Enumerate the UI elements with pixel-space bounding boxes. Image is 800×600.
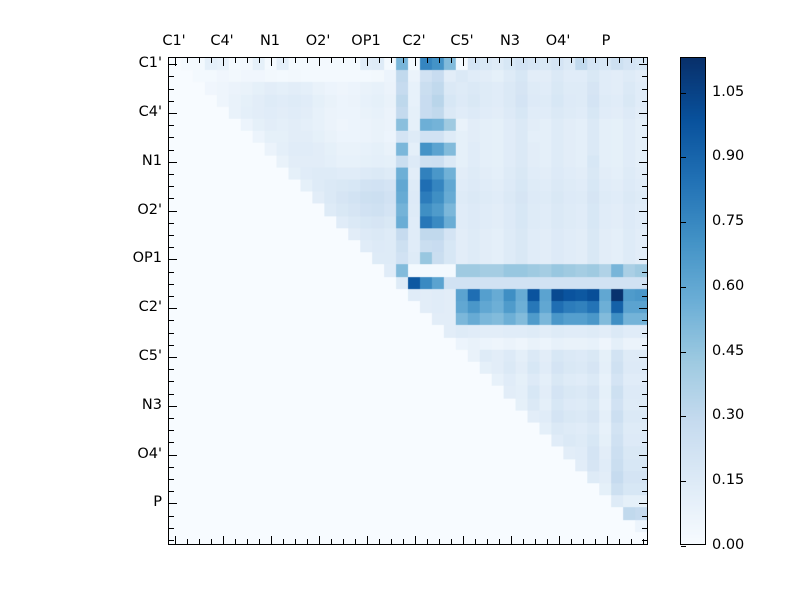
- colorbar-tick: [681, 93, 686, 94]
- colorbar-tick-label-2: 0.30: [712, 407, 744, 423]
- colorbar-tick-label-6: 0.90: [712, 148, 744, 164]
- colorbar-tick: [681, 481, 686, 482]
- colorbar-tick: [681, 157, 686, 158]
- y-tick-label-8: O4': [137, 446, 162, 462]
- colorbar-tick-label-1: 0.15: [712, 472, 744, 488]
- y-tick-label-5: C2': [139, 299, 162, 315]
- colorbar-tick: [681, 416, 686, 417]
- y-tick-label-0: C1': [139, 55, 162, 71]
- y-tick-label-6: C5': [139, 348, 162, 364]
- colorbar-gradient: [681, 58, 705, 544]
- figure-canvas: C1'C4'N1O2'OP1C2'C5'N3O4'P C1'C4'N1O2'OP…: [0, 0, 800, 600]
- y-tick-label-2: N1: [142, 153, 162, 169]
- colorbar-tick-label-5: 0.75: [712, 213, 744, 229]
- colorbar-tick: [681, 352, 686, 353]
- colorbar-tick: [681, 287, 686, 288]
- y-tick-label-9: P: [153, 494, 162, 510]
- y-tick-label-4: OP1: [133, 250, 162, 266]
- colorbar[interactable]: [680, 57, 706, 545]
- colorbar-tick-label-4: 0.60: [712, 278, 744, 294]
- y-tick-label-1: C4': [139, 104, 162, 120]
- colorbar-tick-label-3: 0.45: [712, 343, 744, 359]
- colorbar-tick-label-0: 0.00: [712, 537, 744, 553]
- colorbar-tick-label-7: 1.05: [712, 84, 744, 100]
- y-tick-label-7: N3: [142, 397, 162, 413]
- y-tick-label-3: O2': [137, 202, 162, 218]
- colorbar-tick: [681, 546, 686, 547]
- colorbar-tick: [681, 222, 686, 223]
